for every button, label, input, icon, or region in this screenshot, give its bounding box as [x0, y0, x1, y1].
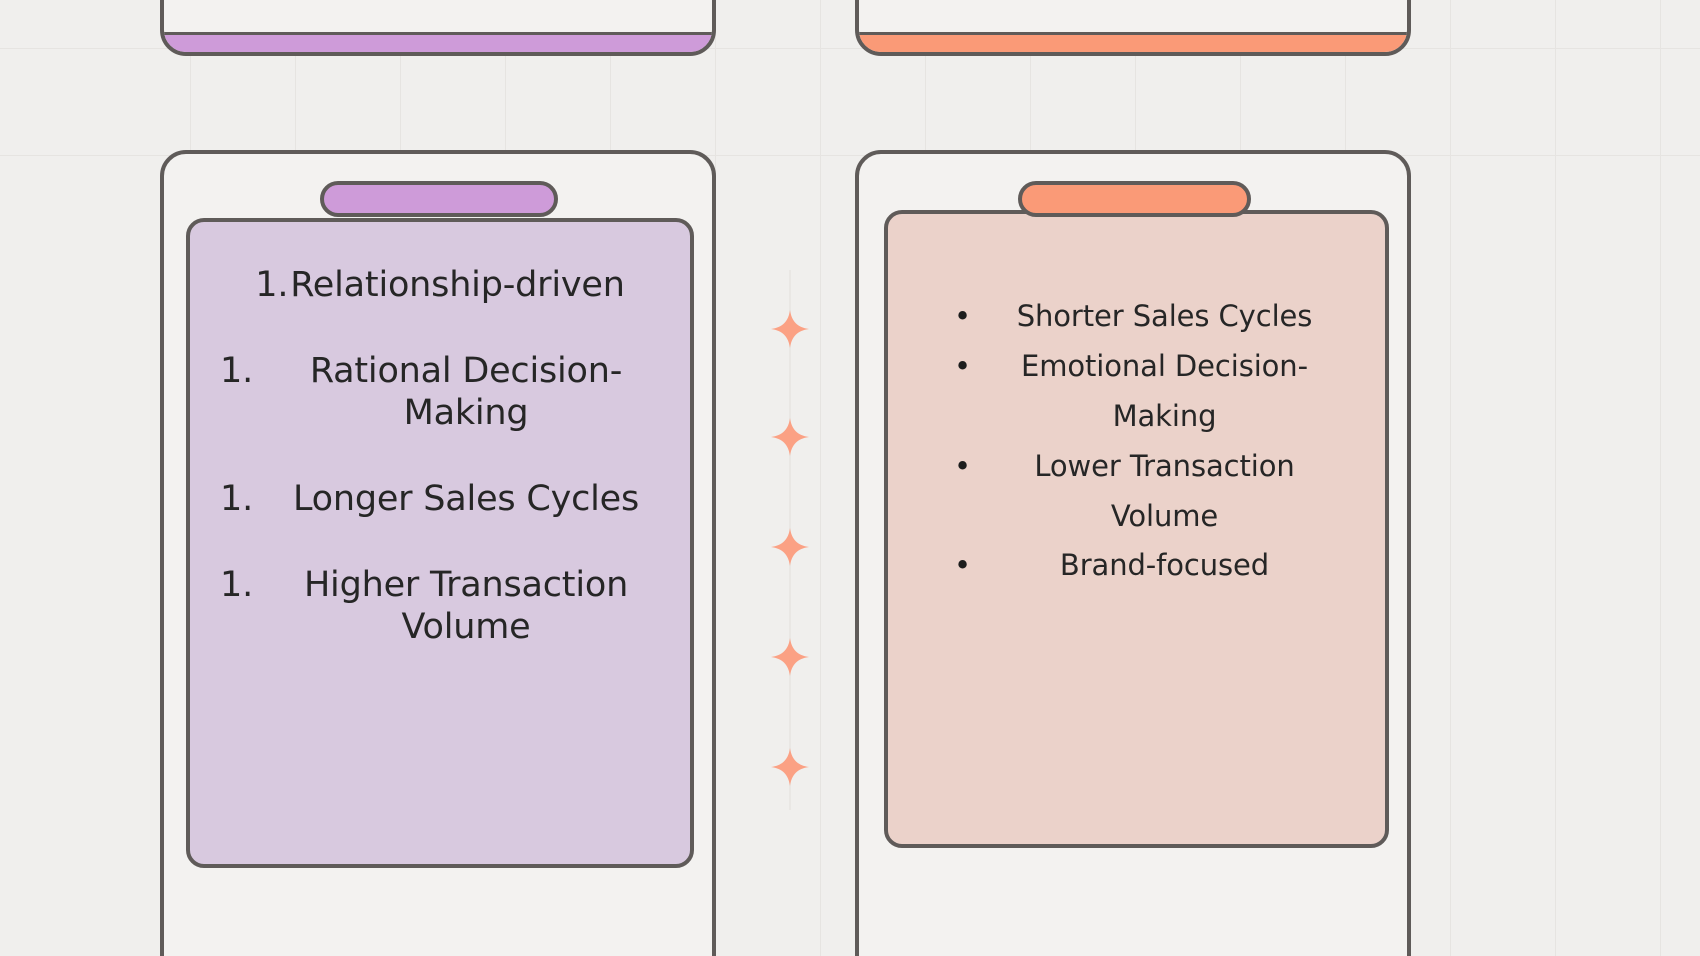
right-card-panel: • Shorter Sales Cycles • Emotional Decis…	[884, 210, 1389, 848]
list-item: • Brand-focused	[928, 541, 1345, 591]
list-marker: 1.	[220, 350, 253, 393]
list-item-text: Brand-focused	[1060, 548, 1269, 582]
left-card-panel: 1.Relationship-driven 1. Rational Decisi…	[186, 218, 694, 868]
sparkle-icon	[771, 748, 809, 786]
top-card-right-accent-strip	[855, 32, 1411, 56]
grid-line-vertical	[1660, 0, 1661, 956]
sparkle-icon	[771, 418, 809, 456]
list-item: • Lower Transaction Volume	[928, 442, 1345, 542]
sparkle-icon	[771, 310, 809, 348]
list-item: • Emotional Decision-Making	[928, 342, 1345, 442]
list-item-text: Lower Transaction Volume	[1034, 449, 1294, 533]
list-item: 1.Relationship-driven	[212, 264, 668, 307]
list-item-text: Relationship-driven	[290, 265, 624, 305]
top-card-right[interactable]	[855, 0, 1411, 56]
list-item-text: Longer Sales Cycles	[293, 479, 639, 519]
left-card-tab[interactable]	[320, 181, 558, 217]
bullet-icon: •	[954, 292, 971, 342]
list-item: 1. Rational Decision-Making	[212, 350, 668, 435]
top-card-left[interactable]	[160, 0, 716, 56]
list-item-text: Higher Transaction Volume	[304, 565, 628, 648]
grid-line-vertical	[1555, 0, 1556, 956]
list-marker: 1.	[255, 265, 288, 305]
sparkle-divider	[760, 270, 820, 810]
grid-line-vertical	[820, 0, 821, 956]
list-item: 1. Higher Transaction Volume	[212, 564, 668, 649]
bullet-icon: •	[954, 442, 971, 492]
grid-line-vertical	[1450, 0, 1451, 956]
bullet-icon: •	[954, 342, 971, 392]
sparkle-icon	[771, 638, 809, 676]
bullet-icon: •	[954, 541, 971, 591]
left-card[interactable]: 1.Relationship-driven 1. Rational Decisi…	[160, 150, 716, 956]
top-card-left-accent-strip	[160, 32, 716, 56]
right-card[interactable]: • Shorter Sales Cycles • Emotional Decis…	[855, 150, 1411, 956]
list-item-text: Rational Decision-Making	[310, 351, 622, 434]
list-marker: 1.	[220, 478, 253, 521]
right-card-list: • Shorter Sales Cycles • Emotional Decis…	[888, 214, 1385, 591]
left-card-list: 1.Relationship-driven 1. Rational Decisi…	[190, 222, 690, 649]
list-item: 1. Longer Sales Cycles	[212, 478, 668, 521]
list-item-text: Shorter Sales Cycles	[1017, 299, 1313, 333]
sparkle-icon	[771, 528, 809, 566]
list-item-text: Emotional Decision-Making	[1021, 349, 1308, 433]
list-item: • Shorter Sales Cycles	[928, 292, 1345, 342]
list-marker: 1.	[220, 564, 253, 607]
right-card-tab[interactable]	[1018, 181, 1251, 217]
